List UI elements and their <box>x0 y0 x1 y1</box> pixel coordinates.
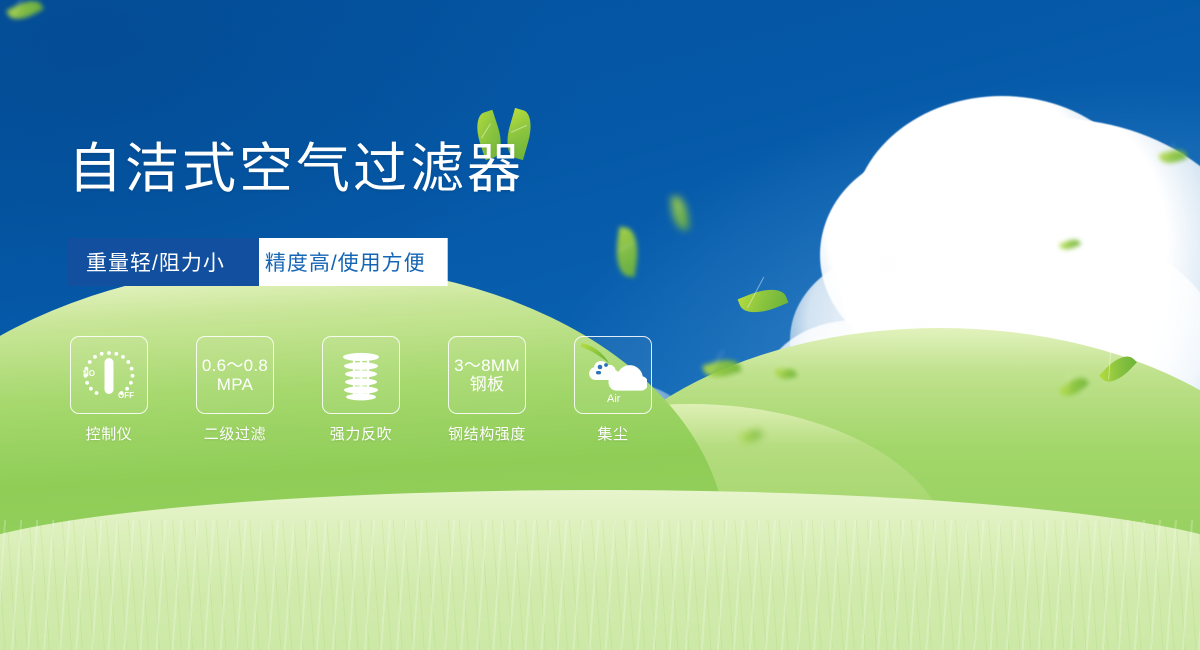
feature-icon-box: Air <box>574 336 652 414</box>
feature-label-two-stage-filter: 二级过滤 <box>204 423 266 444</box>
product-banner: 自洁式空气过滤器 重量轻/阻力小 精度高/使用方便 <box>0 0 1200 650</box>
feature-item-strong-backflush[interactable]: 强力反吹 <box>322 336 400 444</box>
feature-icon-box: 0.6～0.8 MPA <box>196 336 274 414</box>
feature-label-strong-backflush: 强力反吹 <box>330 423 392 444</box>
feature-item-two-stage-filter[interactable]: 0.6～0.8 MPA 二级过滤 <box>196 336 274 444</box>
cloud-air-label: Air <box>607 393 621 405</box>
feature-item-controller[interactable]: NO OFF 控制仪 <box>70 336 148 444</box>
field-streaks <box>0 520 1200 650</box>
feature-list: NO OFF 控制仪 0.6～0.8 MPA 二级过滤 <box>70 336 652 444</box>
pressure-unit-line: MPA <box>202 375 268 394</box>
feature-label-steel-strength: 钢结构强度 <box>448 423 526 444</box>
cloud-air-icon: Air <box>579 341 647 409</box>
subtitle-left-segment: 重量轻/阻力小 <box>68 238 259 286</box>
pressure-text-icon: 0.6～0.8 MPA <box>202 356 268 394</box>
feature-item-dust-collection[interactable]: Air 集尘 <box>574 336 652 444</box>
subtitle-right-segment: 精度高/使用方便 <box>241 238 448 286</box>
steel-thickness-line: 3～8MM <box>454 356 520 375</box>
page-title: 自洁式空气过滤器 <box>68 142 524 196</box>
feature-label-dust-collection: 集尘 <box>597 423 628 444</box>
steel-plate-line: 钢板 <box>454 375 520 394</box>
dial-off-label: OFF <box>118 391 134 400</box>
field-foreground <box>0 490 1200 650</box>
subtitle-bar: 重量轻/阻力小 精度高/使用方便 <box>68 238 448 286</box>
steel-plate-text-icon: 3～8MM 钢板 <box>454 356 520 394</box>
feature-icon-box <box>322 336 400 414</box>
dial-gauge-icon: NO OFF <box>74 340 144 410</box>
filter-cartridge-icon <box>330 344 392 406</box>
pressure-range-line: 0.6～0.8 <box>202 356 268 375</box>
feature-icon-box: NO OFF <box>70 336 148 414</box>
feature-item-steel-strength[interactable]: 3～8MM 钢板 钢结构强度 <box>448 336 526 444</box>
feature-label-controller: 控制仪 <box>86 423 133 444</box>
dial-on-label: NO <box>83 369 95 378</box>
feature-icon-box: 3～8MM 钢板 <box>448 336 526 414</box>
